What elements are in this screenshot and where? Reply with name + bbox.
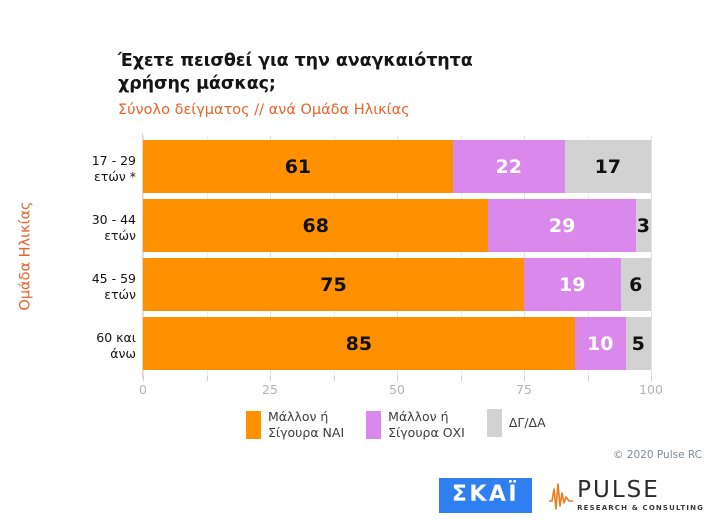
x-axis-tick-label: 0 [139, 382, 147, 397]
pulse-waveform-icon [548, 479, 574, 513]
pulse-logo-tagline: RESEARCH & CONSULTING [577, 505, 704, 512]
legend-item-no[interactable]: Μάλλον ή Σίγουρα ΟΧΙ [366, 409, 465, 440]
y-axis-category-label: 30 - 44 ετών [48, 212, 136, 244]
x-axis-tick [207, 376, 208, 381]
y-axis-category-label: 60 και άνω [48, 330, 136, 362]
x-axis-tick [461, 376, 462, 381]
x-axis-ticks: 0255075100 [143, 376, 651, 398]
chart-legend: Μάλλον ή Σίγουρα ΝΑΙΜάλλον ή Σίγουρα ΟΧΙ… [246, 409, 546, 440]
x-axis-tick-label: 50 [389, 382, 405, 397]
legend-item-yes[interactable]: Μάλλον ή Σίγουρα ΝΑΙ [246, 409, 344, 440]
legend-label: Μάλλον ή Σίγουρα ΝΑΙ [268, 409, 344, 440]
x-axis-tick [651, 376, 652, 381]
legend-label: Μάλλον ή Σίγουρα ΟΧΙ [388, 409, 465, 440]
pulse-logo: PULSE RESEARCH & CONSULTING [548, 479, 704, 513]
bar-row[interactable]: 85105 [143, 317, 651, 370]
x-axis-tick [397, 376, 398, 381]
plot-area: PULSE RESEARCH & CONSULTING 612217682937… [143, 136, 651, 376]
bar-segment-dk[interactable]: 3 [636, 199, 651, 252]
copyright-text: © 2020 Pulse RC [613, 449, 702, 461]
bar-value-label: 68 [302, 215, 328, 237]
bar-segment-no[interactable]: 10 [575, 317, 626, 370]
legend-label: ΔΓ/ΔΑ [509, 415, 546, 431]
bar-segment-yes[interactable]: 61 [143, 140, 453, 193]
bar-value-label: 19 [559, 274, 585, 296]
y-axis-category-label: 45 - 59 ετών [48, 271, 136, 303]
legend-swatch-yes [246, 411, 261, 439]
bar-row[interactable]: 75196 [143, 258, 651, 311]
bar-value-label: 17 [595, 156, 621, 178]
x-axis-tick [524, 376, 525, 381]
bar-value-label: 5 [632, 333, 645, 355]
chart-page: Έχετε πεισθεί για την αναγκαιότητα χρήση… [0, 0, 716, 531]
bar-segment-dk[interactable]: 17 [565, 140, 651, 193]
bar-row[interactable]: 612217 [143, 140, 651, 193]
bar-value-label: 29 [549, 215, 575, 237]
footer-logos: ΣΚΑΪ PULSE RESEARCH & CONSULTING [439, 478, 704, 513]
y-axis-category-labels: 17 - 29 ετών *30 - 44 ετών45 - 59 ετών60… [48, 136, 136, 376]
bar-value-label: 6 [629, 274, 642, 296]
legend-swatch-no [366, 411, 381, 439]
bar-value-label: 61 [285, 156, 311, 178]
bar-value-label: 10 [587, 333, 613, 355]
legend-swatch-dk [487, 409, 502, 437]
x-axis-tick-label: 25 [262, 382, 278, 397]
x-axis-tick [270, 376, 271, 381]
bar-segment-no[interactable]: 22 [453, 140, 565, 193]
bar-series-container: 612217682937519685105 [143, 136, 651, 376]
chart-subtitle: Σύνολο δείγματος // ανά Ομάδα Ηλικίας [118, 102, 568, 119]
legend-item-dk[interactable]: ΔΓ/ΔΑ [487, 409, 546, 437]
bar-row[interactable]: 68293 [143, 199, 651, 252]
bar-segment-yes[interactable]: 68 [143, 199, 488, 252]
bar-segment-yes[interactable]: 75 [143, 258, 524, 311]
bar-segment-no[interactable]: 29 [488, 199, 635, 252]
bar-segment-yes[interactable]: 85 [143, 317, 575, 370]
bar-segment-no[interactable]: 19 [524, 258, 621, 311]
bar-value-label: 75 [320, 274, 346, 296]
y-axis-category-label: 17 - 29 ετών * [48, 153, 136, 185]
x-axis-tick [143, 376, 144, 381]
bar-value-label: 22 [496, 156, 522, 178]
gridline [651, 136, 652, 376]
x-axis-tick [588, 376, 589, 381]
pulse-logo-word: PULSE [577, 479, 704, 502]
bar-segment-dk[interactable]: 6 [621, 258, 651, 311]
x-axis-tick-label: 100 [639, 382, 663, 397]
title-block: Έχετε πεισθεί για την αναγκαιότητα χρήση… [118, 50, 568, 119]
y-axis-title: Ομάδα Ηλικίας [14, 136, 38, 376]
pulse-logo-text-wrap: PULSE RESEARCH & CONSULTING [577, 479, 704, 512]
bar-value-label: 3 [637, 215, 650, 237]
x-axis-tick-label: 75 [516, 382, 532, 397]
skai-logo-text: ΣΚΑΪ [452, 484, 519, 506]
skai-logo: ΣΚΑΪ [439, 478, 532, 513]
y-axis-title-label: Ομάδα Ηλικίας [18, 201, 34, 310]
bar-value-label: 85 [346, 333, 372, 355]
x-axis-tick [334, 376, 335, 381]
chart-title: Έχετε πεισθεί για την αναγκαιότητα χρήση… [118, 50, 568, 97]
bar-segment-dk[interactable]: 5 [626, 317, 651, 370]
